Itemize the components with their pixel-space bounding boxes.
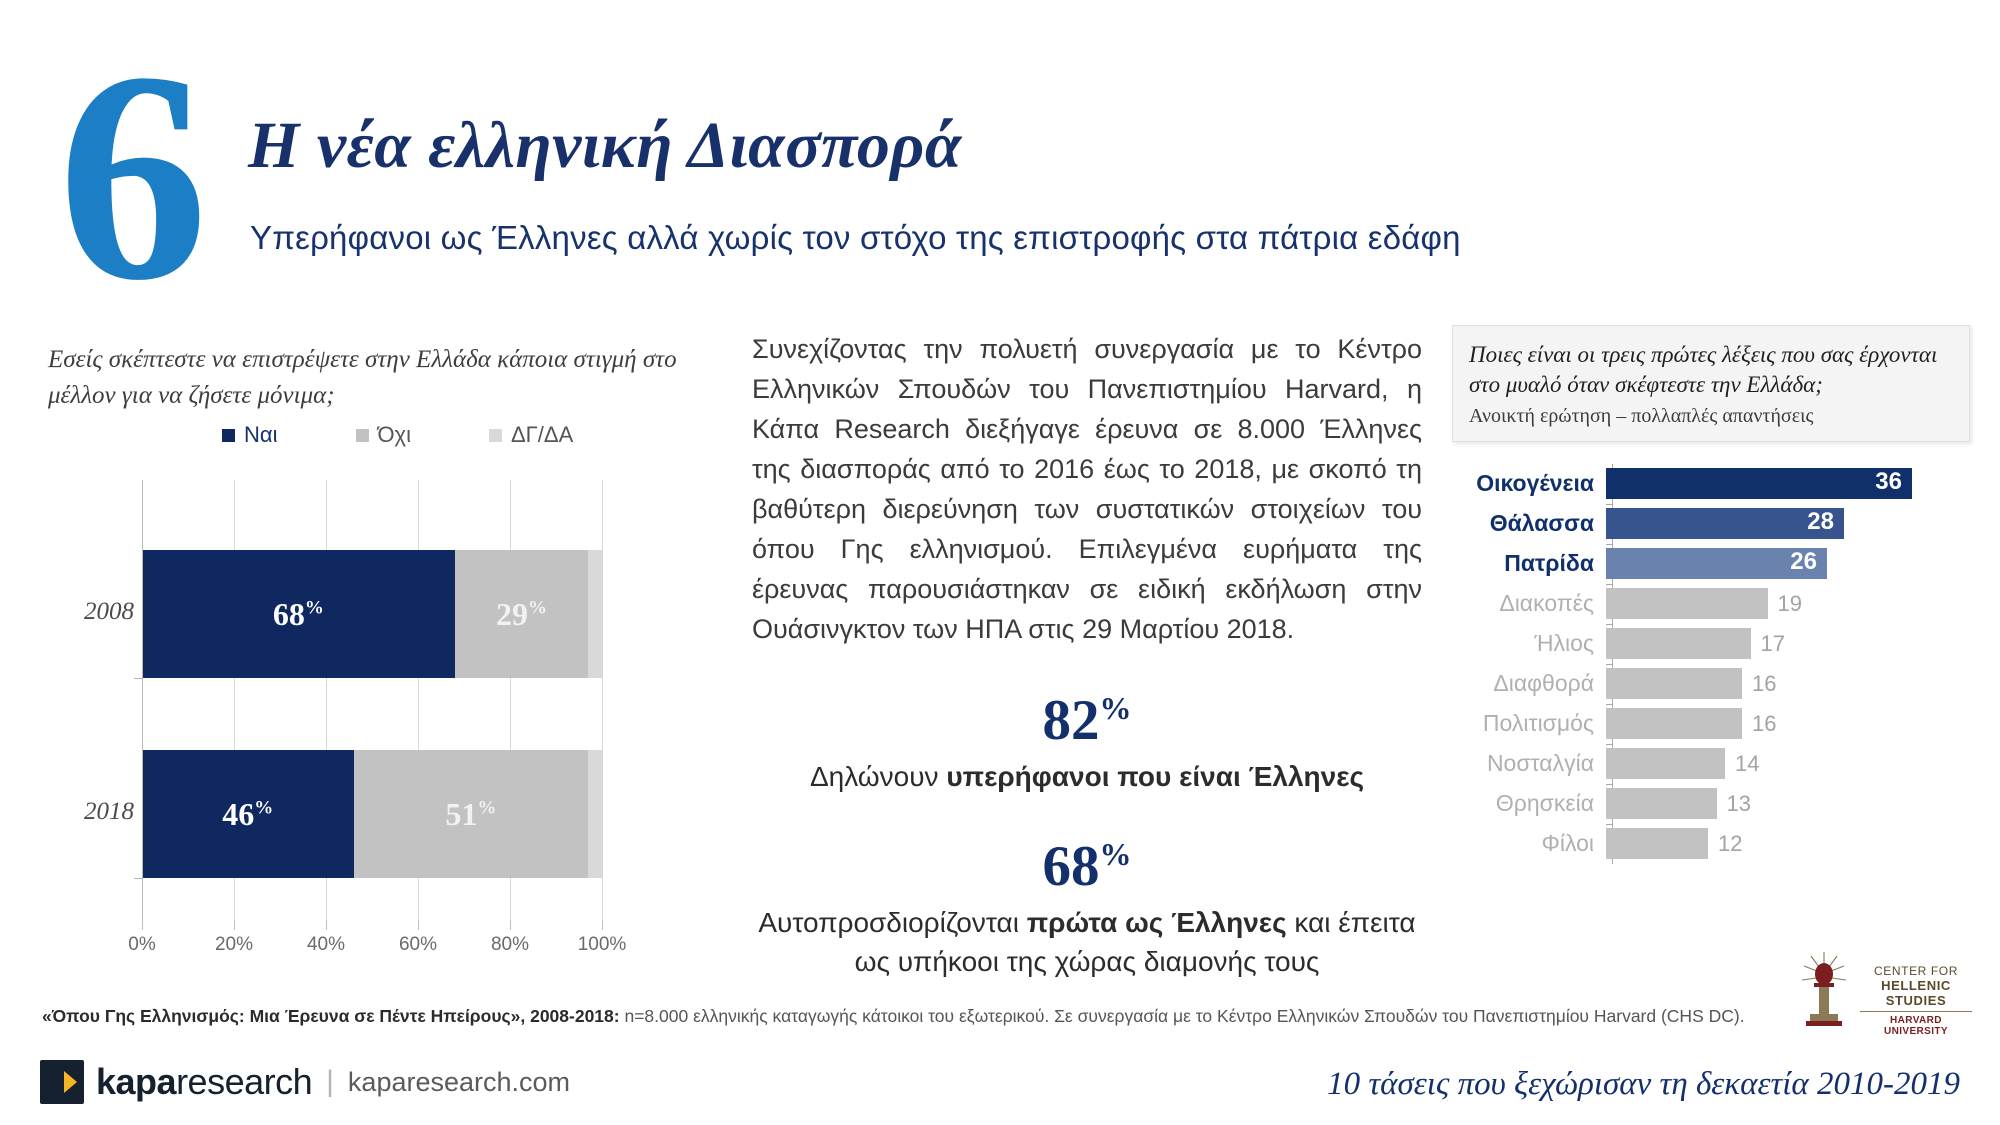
legend-item-ochi: Όχι [356, 422, 411, 448]
word-bar-3 [1606, 588, 1768, 619]
word-label-8: Θρησκεία [1452, 790, 1606, 817]
word-bar-wrap: 19 [1606, 588, 1802, 619]
word-bar-value-2: 26 [1790, 548, 1817, 576]
x-axis-label: 40% [307, 934, 345, 956]
stat-caption-82-pre: Δηλώνουν [810, 761, 946, 792]
word-label-0: Οικογένεια [1452, 470, 1606, 497]
word-bar-value-1: 28 [1807, 508, 1834, 536]
stat-percent-82: % [1100, 690, 1132, 726]
stat-block-68: 68% Αυτοπροσδιορίζονται πρώτα ως Έλληνες… [752, 838, 1422, 981]
x-axis-label: 100% [578, 934, 627, 956]
x-axis-tick [142, 920, 143, 930]
left-chart-question: Εσείς σκέπτεστε να επιστρέψετε στην Ελλά… [48, 342, 708, 413]
x-axis-tick [510, 920, 511, 930]
words-bar-chart: Οικογένεια36Θάλασσα28Πατρίδα26Διακοπές19… [1452, 464, 1972, 884]
word-bar-wrap: 13 [1606, 788, 1751, 819]
left-chart-panel: Εσείς σκέπτεστε να επιστρέψετε στην Ελλά… [0, 330, 740, 990]
section-number: 6 [58, 38, 202, 314]
right-chart-question-sub: Ανοικτή ερώτηση – πολλαπλές απαντήσεις [1469, 405, 1953, 428]
stat-block-82: 82% Δηλώνουν υπερήφανοι που είναι Έλληνε… [752, 692, 1422, 796]
word-bar-value-4: 17 [1761, 631, 1785, 657]
stacked-bar-chart: 68%29%46%51% 0%20%40%60%80%100% 20082018 [0, 470, 740, 980]
footer-divider: | [326, 1065, 334, 1099]
x-axis-label: 20% [215, 934, 253, 956]
word-bar-value-6: 16 [1752, 711, 1776, 737]
word-bar-6 [1606, 708, 1742, 739]
word-bar-wrap: 14 [1606, 748, 1759, 779]
stat-value-82: 82% [752, 692, 1422, 749]
word-bar-4 [1606, 628, 1751, 659]
word-label-2: Πατρίδα [1452, 550, 1606, 577]
bar-segment-ναι: 68% [142, 550, 455, 678]
word-bar-wrap: 16 [1606, 708, 1776, 739]
word-bar-wrap: 28 [1606, 508, 1844, 539]
word-bar-wrap: 36 [1606, 468, 1912, 499]
word-bar-row: Διαφθορά16 [1452, 664, 1972, 704]
word-bar-row: Νοσταλγία14 [1452, 744, 1972, 784]
page-title: Η νέα ελληνική Διασπορά [248, 108, 962, 184]
y-axis-tick [134, 678, 142, 679]
legend-swatch-ochi [356, 429, 369, 442]
right-question-box: Ποιες είναι οι τρεις πρώτες λέξεις που σ… [1452, 325, 1970, 442]
word-bar-row: Θρησκεία13 [1452, 784, 1972, 824]
word-bar-1: 28 [1606, 508, 1844, 539]
y-axis-line [142, 480, 143, 920]
word-label-5: Διαφθορά [1452, 670, 1606, 697]
stat-caption-82-bold: υπερήφανοι που είναι Έλληνες [946, 761, 1364, 792]
bar-row: 46%51% [142, 750, 602, 878]
word-bar-wrap: 12 [1606, 828, 1742, 859]
bar-segment-ναι: 46% [142, 750, 354, 878]
stat-caption-68-pre: Αυτοπροσδιορίζονται [758, 907, 1026, 938]
bar-segment-δγδα [588, 550, 602, 678]
word-bar-value-5: 16 [1752, 671, 1776, 697]
word-bar-row: Φίλοι12 [1452, 824, 1972, 864]
bar-category-label-2008: 2008 [34, 598, 134, 626]
word-bar-value-0: 36 [1875, 468, 1902, 496]
word-label-6: Πολιτισμός [1452, 710, 1606, 737]
chs-line1: CENTER FOR [1860, 964, 1972, 978]
legend-swatch-nai [222, 429, 235, 442]
word-bar-wrap: 16 [1606, 668, 1776, 699]
word-bar-0: 36 [1606, 468, 1912, 499]
stat-caption-68: Αυτοπροσδιορίζονται πρώτα ως Έλληνες και… [752, 903, 1422, 981]
word-label-4: Ήλιος [1452, 630, 1606, 657]
footnote-years: 2008-2018: [525, 1006, 619, 1026]
stat-caption-68-bold: πρώτα ως Έλληνες [1027, 907, 1287, 938]
x-axis-label: 0% [128, 934, 155, 956]
legend-label-dgda: ΔΓ/ΔΑ [511, 422, 573, 448]
x-axis-tick [418, 920, 419, 930]
gridline [602, 480, 603, 920]
bar-row: 68%29% [142, 550, 602, 678]
stat-value-68: 68% [752, 838, 1422, 895]
x-axis-label: 60% [399, 934, 437, 956]
bar-category-label-2018: 2018 [34, 798, 134, 826]
word-bar-value-9: 12 [1718, 831, 1742, 857]
chs-line2: HELLENIC STUDIES [1860, 978, 1972, 1008]
word-bar-7 [1606, 748, 1725, 779]
footer-tagline: 10 τάσεις που ξεχώρισαν τη δεκαετία 2010… [1327, 1066, 1960, 1103]
stat-percent-68: % [1100, 836, 1132, 872]
footnote: «Όπου Γης Ελληνισμός: Μια Έρευνα σε Πέντ… [42, 1005, 1942, 1028]
bar-segment-δγδα [588, 750, 602, 878]
stat-number-68: 68 [1043, 835, 1100, 898]
word-bar-wrap: 17 [1606, 628, 1785, 659]
word-bar-8 [1606, 788, 1717, 819]
word-bar-2: 26 [1606, 548, 1827, 579]
word-bar-5 [1606, 668, 1742, 699]
stacked-bar-x-axis: 0%20%40%60%80%100% [142, 920, 602, 956]
word-bar-wrap: 26 [1606, 548, 1827, 579]
kapa-research-logo[interactable]: kaparesearch | kaparesearch.com [40, 1060, 570, 1104]
word-label-9: Φίλοι [1452, 830, 1606, 857]
word-label-3: Διακοπές [1452, 590, 1606, 617]
kapa-brand-bold: kapa [96, 1061, 176, 1102]
x-axis-tick [326, 920, 327, 930]
page-subtitle: Υπερήφανοι ως Έλληνες αλλά χωρίς τον στό… [250, 219, 1461, 257]
y-axis-tick [134, 878, 142, 879]
legend-label-nai: Ναι [244, 422, 278, 448]
word-bar-row: Ήλιος17 [1452, 624, 1972, 664]
right-chart-panel: Ποιες είναι οι τρεις πρώτες λέξεις που σ… [1452, 325, 1972, 884]
legend-item-nai: Ναι [222, 422, 278, 448]
legend-swatch-dgda [489, 429, 502, 442]
bar-value-label: 29% [496, 596, 547, 633]
legend-item-dgda: ΔΓ/ΔΑ [489, 422, 573, 448]
bar-value-label: 46% [222, 796, 273, 833]
word-bar-row: Πατρίδα26 [1452, 544, 1972, 584]
word-label-7: Νοσταλγία [1452, 750, 1606, 777]
page-header: 6 Η νέα ελληνική Διασπορά Υπερήφανοι ως … [0, 0, 2000, 300]
x-axis-tick [234, 920, 235, 930]
word-bar-row: Πολιτισμός16 [1452, 704, 1972, 744]
left-chart-legend: Ναι Όχι ΔΓ/ΔΑ [222, 422, 573, 448]
bar-value-label: 68% [273, 596, 324, 633]
kapa-mark-icon [40, 1060, 84, 1104]
x-axis-tick [602, 920, 603, 930]
stat-number-82: 82 [1043, 689, 1100, 752]
footnote-rest: n=8.000 ελληνικής καταγωγής κάτοικοι του… [620, 1006, 1745, 1026]
word-label-1: Θάλασσα [1452, 510, 1606, 537]
word-bar-value-8: 13 [1727, 791, 1751, 817]
stacked-bar-plot-area: 68%29%46%51% [142, 480, 602, 920]
legend-label-ochi: Όχι [378, 422, 411, 448]
word-bar-9 [1606, 828, 1708, 859]
intro-paragraph: Συνεχίζοντας την πολυετή συνεργασία με τ… [752, 330, 1422, 650]
kapa-brand-light: research [176, 1061, 312, 1102]
word-bar-row: Διακοπές19 [1452, 584, 1972, 624]
x-axis-label: 80% [491, 934, 529, 956]
kapa-brand: kaparesearch [96, 1061, 312, 1103]
footnote-title: «Όπου Γης Ελληνισμός: Μια Έρευνα σε Πέντ… [42, 1006, 525, 1026]
word-bar-row: Οικογένεια36 [1452, 464, 1972, 504]
word-bar-value-3: 19 [1778, 591, 1802, 617]
bar-segment-χι: 51% [354, 750, 589, 878]
stat-caption-82: Δηλώνουν υπερήφανοι που είναι Έλληνες [752, 757, 1422, 796]
word-bar-value-7: 14 [1735, 751, 1759, 777]
bar-segment-χι: 29% [455, 550, 588, 678]
right-chart-question: Ποιες είναι οι τρεις πρώτες λέξεις που σ… [1469, 340, 1953, 401]
footer-website[interactable]: kaparesearch.com [348, 1067, 570, 1098]
middle-text-panel: Συνεχίζοντας την πολυετή συνεργασία με τ… [752, 330, 1442, 981]
bar-value-label: 51% [445, 796, 496, 833]
page-footer: kaparesearch | kaparesearch.com 10 τάσει… [0, 1048, 2000, 1125]
word-bar-row: Θάλασσα28 [1452, 504, 1972, 544]
